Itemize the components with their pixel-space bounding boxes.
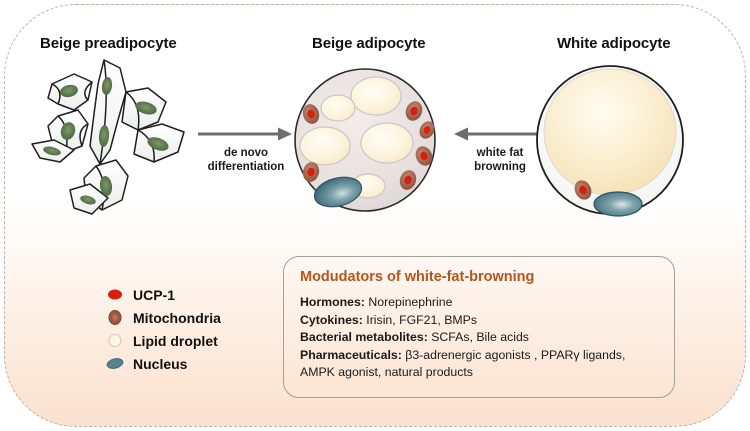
legend-item-ucp1: UCP-1 xyxy=(104,283,221,306)
modulators-pharmaceuticals-continuation: AMPK agonist, natural products xyxy=(300,364,658,382)
modulators-row-cytokines: Cytokines: Irisin, FGF21, BMPs xyxy=(300,312,658,330)
modulators-row-hormones: Hormones: Norepinephrine xyxy=(300,294,658,312)
legend: UCP-1 Mitochondria Lipid droplet xyxy=(104,283,221,375)
legend-label-mitochondria: Mitochondria xyxy=(133,310,221,326)
arrow-label-de-novo-differentiation: de novo differentiation xyxy=(198,146,294,174)
arrow-de-novo-differentiation: de novo differentiation xyxy=(198,126,294,174)
modulators-box: Modudators of white-fat-browning Hormone… xyxy=(283,256,675,398)
figure-root: Beige preadipocyte Beige adipocyte White… xyxy=(0,0,750,431)
legend-item-nucleus: Nucleus xyxy=(104,352,221,375)
lipid-droplet-marker-icon xyxy=(104,333,126,348)
arrow-left-icon xyxy=(452,126,548,146)
legend-item-lipid-droplet: Lipid droplet xyxy=(104,329,221,352)
arrow-white-fat-browning: white fat browning xyxy=(452,126,548,174)
arrow-right-icon xyxy=(198,126,294,146)
white-adipocyte-illustration xyxy=(535,62,685,218)
modulators-category-bacterial-metabolites: Bacterial metabolites: xyxy=(300,330,428,344)
cell-title-beige-adipocyte: Beige adipocyte xyxy=(312,35,426,52)
modulators-title: Modudators of white-fat-browning xyxy=(300,269,658,285)
beige-adipocyte-illustration xyxy=(292,64,438,216)
modulators-category-hormones: Hormones: xyxy=(300,295,365,309)
cell-title-white-adipocyte: White adipocyte xyxy=(557,35,671,52)
beige-preadipocyte-illustration xyxy=(30,58,205,223)
ucp1-marker-icon xyxy=(104,288,126,301)
legend-label-lipid-droplet: Lipid droplet xyxy=(133,333,218,349)
modulators-row-pharmaceuticals: Pharmaceuticals: β3-adrenergic agonists … xyxy=(300,347,658,365)
modulators-values-hormones: Norepinephrine xyxy=(368,295,452,309)
modulators-category-pharmaceuticals: Pharmaceuticals: xyxy=(300,348,402,362)
modulators-values-bacterial-metabolites: SCFAs, Bile acids xyxy=(431,330,529,344)
legend-label-nucleus: Nucleus xyxy=(133,356,187,372)
modulators-category-cytokines: Cytokines: xyxy=(300,313,363,327)
nucleus xyxy=(594,192,642,216)
arrow-label-white-fat-browning: white fat browning xyxy=(452,146,548,174)
legend-label-ucp1: UCP-1 xyxy=(133,287,175,303)
modulators-values-cytokines: Irisin, FGF21, BMPs xyxy=(366,313,477,327)
modulators-values-pharmaceuticals: β3-adrenergic agonists , PPARγ ligands, xyxy=(405,348,625,362)
nucleus-marker-icon xyxy=(104,357,126,370)
legend-item-mitochondria: Mitochondria xyxy=(104,306,221,329)
mitochondria-marker-icon xyxy=(104,310,126,325)
cell-title-beige-preadipocyte: Beige preadipocyte xyxy=(40,35,177,52)
modulators-row-bacterial-metabolites: Bacterial metabolites: SCFAs, Bile acids xyxy=(300,329,658,347)
